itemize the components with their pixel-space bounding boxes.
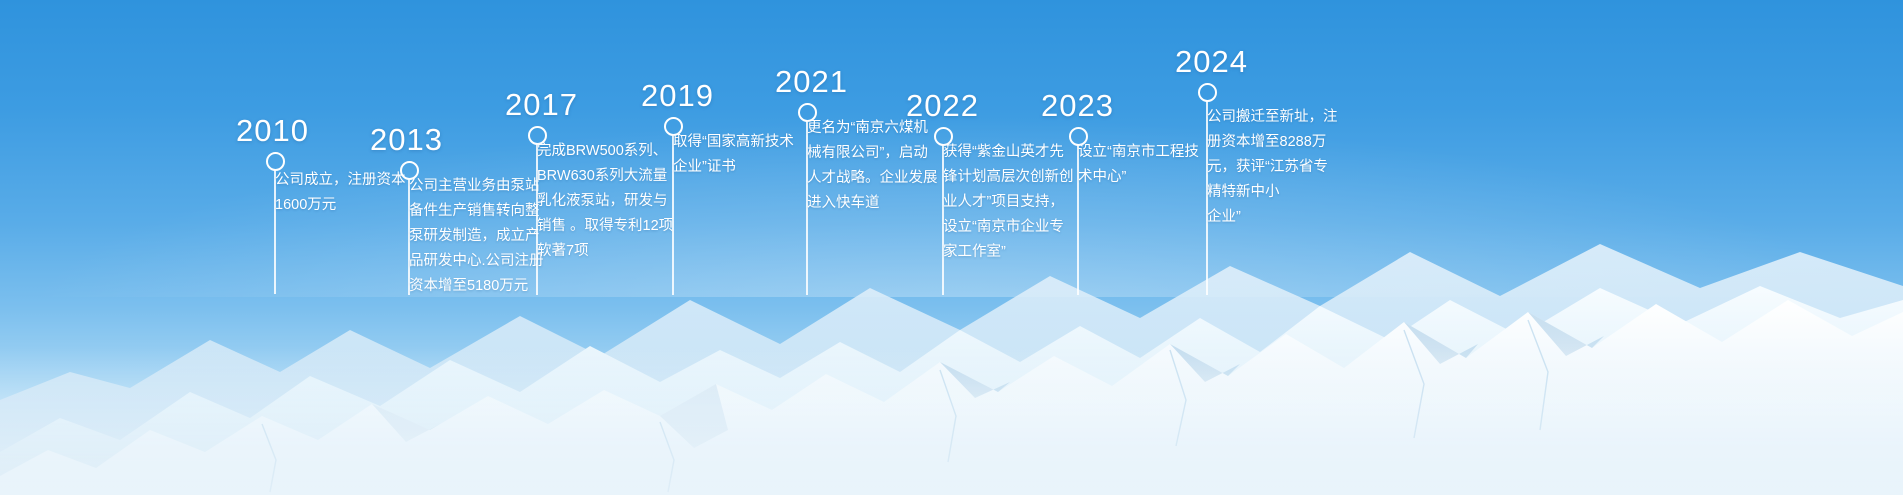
milestone-year-label: 2010 xyxy=(236,113,309,149)
milestone-year-label: 2022 xyxy=(906,88,979,124)
milestone-description: 公司搬迁至新址，注 册资本增至8288万 元，获评“江苏省专 精特新中小 企业” xyxy=(1207,105,1379,230)
milestone-year-label: 2017 xyxy=(505,87,578,123)
milestone-year-label: 2013 xyxy=(370,122,443,158)
timeline-track: 2010公司成立，注册资本 1600万元2013公司主营业务由泵站 备件生产销售… xyxy=(0,0,1903,495)
milestone-year-label: 2024 xyxy=(1175,44,1248,80)
milestone-year-label: 2019 xyxy=(641,78,714,114)
timeline-infographic: 2010公司成立，注册资本 1600万元2013公司主营业务由泵站 备件生产销售… xyxy=(0,0,1903,495)
milestone-year-label: 2023 xyxy=(1041,88,1114,124)
milestone-node-circle-icon[interactable] xyxy=(1198,83,1217,102)
milestone-year-label: 2021 xyxy=(775,64,848,100)
